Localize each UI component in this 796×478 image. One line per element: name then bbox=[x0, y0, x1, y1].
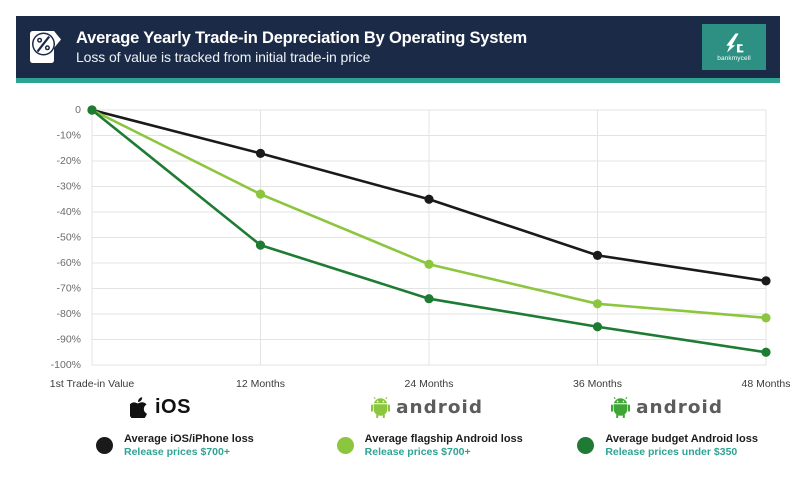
legend-item-flagship-android: Average flagship Android loss Release pr… bbox=[337, 432, 523, 460]
brand-label-flagship-android: android bbox=[396, 397, 483, 418]
data-point bbox=[761, 313, 770, 322]
legend-sublabel-ios: Release prices $700+ bbox=[124, 446, 254, 460]
legend-label-budget-android: Average budget Android loss bbox=[605, 432, 758, 446]
page-title: Average Yearly Trade-in Depreciation By … bbox=[76, 29, 702, 48]
brand-label-budget-android: android bbox=[636, 397, 723, 418]
bankmycell-logo: bankmycell bbox=[702, 24, 766, 70]
brand-row-budget-android: android bbox=[611, 392, 722, 422]
legend-label-flagship-android: Average flagship Android loss bbox=[365, 432, 523, 446]
x-axis-tick-label: 12 Months bbox=[236, 378, 285, 388]
legend-group-flagship-android: android Average flagship Android loss Re… bbox=[315, 392, 556, 478]
legend-item-ios: Average iOS/iPhone loss Release prices $… bbox=[96, 432, 254, 460]
legend-dot-budget-android bbox=[577, 437, 594, 454]
android-robot-icon bbox=[611, 397, 630, 418]
page-subtitle: Loss of value is tracked from initial tr… bbox=[76, 49, 702, 66]
chart-legend: iOS Average iOS/iPhone loss Release pric… bbox=[0, 392, 796, 478]
bankmycell-mark-icon bbox=[721, 32, 747, 54]
data-point bbox=[424, 195, 433, 204]
y-axis-tick-label: -20% bbox=[56, 155, 81, 167]
x-axis-tick-label: 48 Months bbox=[741, 378, 790, 388]
data-point bbox=[87, 105, 96, 114]
android-robot-icon bbox=[371, 397, 390, 418]
header-bar: Average Yearly Trade-in Depreciation By … bbox=[16, 16, 780, 78]
y-axis-tick-label: -10% bbox=[56, 129, 81, 141]
x-axis-tick-label: 24 Months bbox=[404, 378, 453, 388]
x-axis-tick-label: 36 Months bbox=[573, 378, 622, 388]
data-point bbox=[761, 276, 770, 285]
y-axis-tick-label: -30% bbox=[56, 180, 81, 192]
brand-row-ios: iOS bbox=[130, 392, 191, 422]
brand-label-ios: iOS bbox=[155, 396, 191, 419]
chart-area: 0-10%-20%-30%-40%-50%-60%-70%-80%-90%-10… bbox=[0, 88, 796, 388]
depreciation-line-chart: 0-10%-20%-30%-40%-50%-60%-70%-80%-90%-10… bbox=[0, 88, 796, 388]
legend-item-budget-android: Average budget Android loss Release pric… bbox=[577, 432, 758, 460]
y-axis-tick-label: -90% bbox=[56, 333, 81, 345]
y-axis-tick-label: -60% bbox=[56, 257, 81, 269]
legend-label-ios: Average iOS/iPhone loss bbox=[124, 432, 254, 446]
y-axis-tick-label: -80% bbox=[56, 308, 81, 320]
y-axis-tick-label: -50% bbox=[56, 231, 81, 243]
y-axis-tick-label: -100% bbox=[51, 359, 81, 371]
logo-wordmark: bankmycell bbox=[717, 55, 751, 62]
x-axis-tick-label: 1st Trade-in Value bbox=[50, 378, 135, 388]
legend-dot-ios bbox=[96, 437, 113, 454]
legend-group-budget-android: android Average budget Android loss Rele… bbox=[555, 392, 796, 478]
apple-logo-icon bbox=[130, 397, 148, 418]
brand-row-flagship-android: android bbox=[371, 392, 482, 422]
data-point bbox=[424, 294, 433, 303]
y-axis-tick-label: 0 bbox=[75, 104, 81, 116]
data-point bbox=[593, 299, 602, 308]
legend-sublabel-flagship-android: Release prices $700+ bbox=[365, 446, 523, 460]
data-point bbox=[761, 348, 770, 357]
percent-tag-icon bbox=[28, 29, 64, 65]
y-axis-tick-label: -40% bbox=[56, 206, 81, 218]
data-point bbox=[593, 251, 602, 260]
legend-sublabel-budget-android: Release prices under $350 bbox=[605, 446, 758, 460]
data-point bbox=[256, 190, 265, 199]
data-point bbox=[256, 241, 265, 250]
header-accent-strip bbox=[16, 78, 780, 83]
data-point bbox=[424, 260, 433, 269]
legend-group-ios: iOS Average iOS/iPhone loss Release pric… bbox=[0, 392, 315, 478]
data-point bbox=[256, 149, 265, 158]
header-text-block: Average Yearly Trade-in Depreciation By … bbox=[76, 29, 702, 66]
data-point bbox=[593, 322, 602, 331]
infographic-page: Average Yearly Trade-in Depreciation By … bbox=[0, 0, 796, 478]
legend-dot-flagship-android bbox=[337, 437, 354, 454]
y-axis-tick-label: -70% bbox=[56, 282, 81, 294]
